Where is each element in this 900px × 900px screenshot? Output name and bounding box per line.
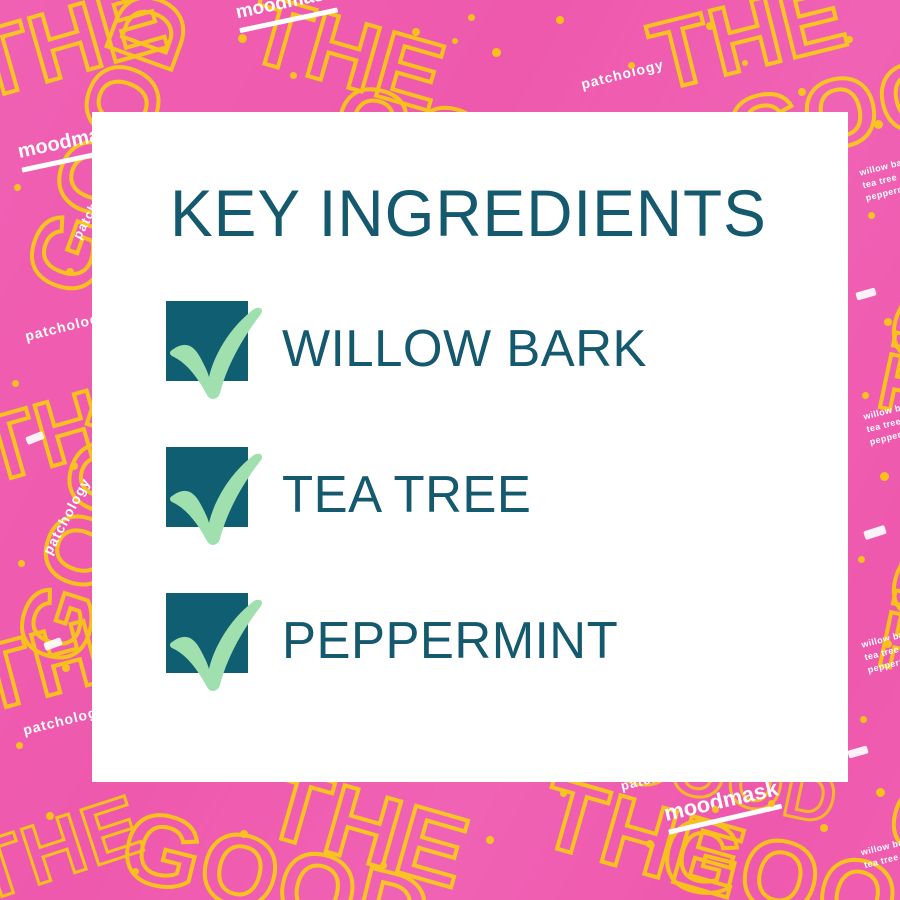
list-item[interactable]: PEPPERMINT xyxy=(166,590,806,692)
ingredient-label: TEA TREE xyxy=(282,469,531,521)
product-graphic: THE THE THE GOOD GOOD GOOD THE GOOD THE … xyxy=(0,0,900,900)
ingredient-label: PEPPERMINT xyxy=(282,615,618,667)
ingredient-list: WILLOW BARK TEA TREE P xyxy=(166,298,806,736)
checkbox-checked-icon[interactable] xyxy=(166,301,262,397)
info-card: KEY INGREDIENTS WILLOW BARK xyxy=(92,112,848,782)
list-item[interactable]: TEA TREE xyxy=(166,444,806,546)
ingredient-label: WILLOW BARK xyxy=(282,323,647,375)
checkbox-checked-icon[interactable] xyxy=(166,593,262,689)
page-title: KEY INGREDIENTS xyxy=(170,180,767,246)
checkbox-checked-icon[interactable] xyxy=(166,447,262,543)
list-item[interactable]: WILLOW BARK xyxy=(166,298,806,400)
